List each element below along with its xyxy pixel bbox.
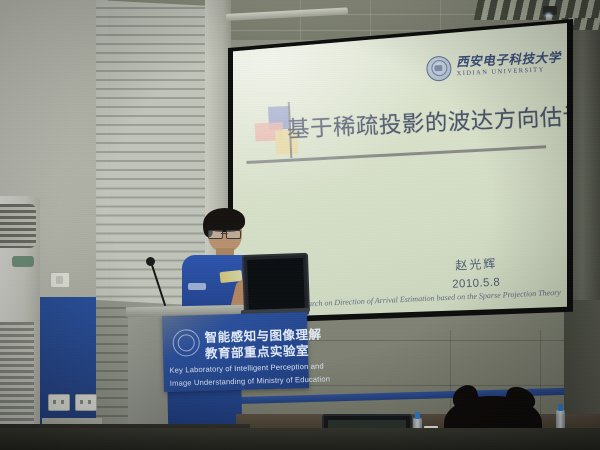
eyeglasses-icon (208, 230, 241, 237)
ac-vent-bottom (0, 322, 34, 440)
wall-stripe (236, 387, 600, 404)
photo-scene: 西安电子科技大学 XIDIAN UNIVERSITY 基于稀疏投影的波达方向估计… (0, 0, 600, 450)
laptop-screen (242, 253, 310, 315)
university-logo: 西安电子科技大学 XIDIAN UNIVERSITY (426, 47, 557, 85)
podium-title-cn-line2: 教育部重点实验室 (205, 340, 310, 362)
podium-title-en-line2: Image Understanding of Ministry of Educa… (170, 374, 330, 387)
university-seal-icon (426, 55, 452, 81)
presenter-laptop[interactable] (242, 253, 306, 317)
slide-date: 2010.5.8 (452, 277, 500, 291)
air-conditioner (0, 196, 40, 450)
ceiling-projector (543, 6, 557, 15)
podium-sign: 智能感知与图像理解 教育部重点实验室 Key Laboratory of Int… (162, 312, 309, 392)
lab-seal-icon (172, 329, 200, 357)
slide-title: 基于稀疏投影的波达方向估计研究 (286, 99, 567, 144)
slide-author: 赵光辉 (455, 255, 498, 274)
light-switch[interactable] (50, 272, 70, 288)
microphone (150, 262, 196, 308)
podium-title-en-line1: Key Laboratory of Intelligent Perception… (169, 362, 324, 375)
right-wall-column (570, 30, 600, 330)
ac-brand-badge (12, 256, 34, 267)
power-outlet[interactable] (75, 394, 97, 411)
power-outlet[interactable] (48, 394, 70, 411)
ac-vent-top (0, 204, 36, 248)
ceiling-light-fixture (474, 0, 600, 20)
university-name-cn: 西安电子科技大学 (456, 52, 561, 69)
foreground-table-edge (0, 428, 600, 450)
slide-subtitle-en: Research on Direction of Arrival Estimat… (293, 287, 567, 309)
